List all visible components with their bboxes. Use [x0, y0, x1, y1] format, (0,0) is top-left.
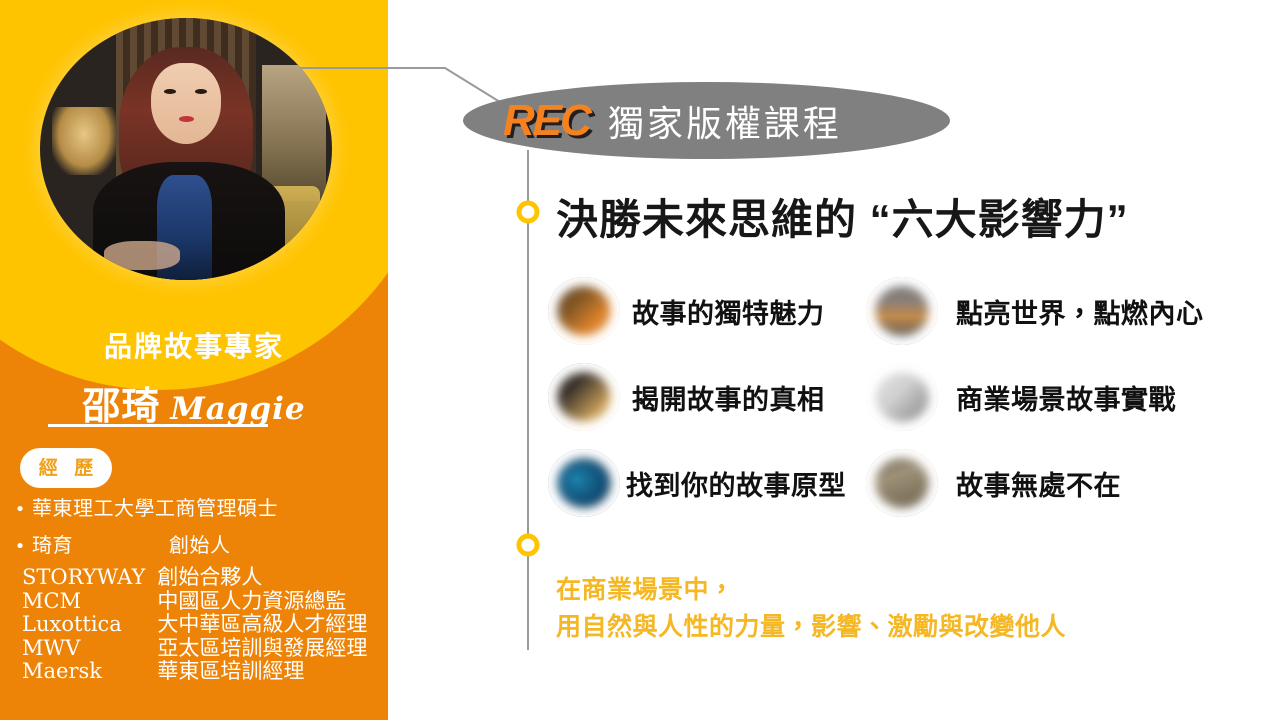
footer-tagline: 在商業場景中， 用自然與人性的力量，影響、激勵與改變他人	[556, 572, 1066, 646]
table-row: STORYWAY 創始合夥人	[22, 566, 367, 590]
topic-item: 揭開故事的真相	[548, 363, 866, 431]
history-title: 創始合夥人	[157, 566, 367, 590]
bullet-icon: •	[8, 499, 32, 520]
rec-badge: REC 獨家版權課程	[463, 82, 950, 159]
topic-item: 商業場景故事實戰	[866, 363, 1266, 431]
history-title: 大中華區高級人才經理	[157, 613, 367, 637]
portrait-background-lamp	[52, 107, 116, 175]
topic-row: 找到你的故事原型 故事無處不在	[548, 440, 1280, 526]
current-title: 創始人	[169, 533, 231, 557]
portrait-eye-left	[164, 89, 176, 94]
slide-canvas: 品牌故事專家 邵琦Maggie 經 歷 • 華東理工大學工商管理碩士 • 琦育創…	[0, 0, 1280, 720]
topic-item: 故事無處不在	[866, 449, 1266, 517]
table-row: MCM 中國區人力資源總監	[22, 590, 367, 614]
topic-label: 揭開故事的真相	[632, 378, 825, 417]
speaker-name-underline	[48, 424, 268, 427]
current-role-text: 琦育創始人	[32, 529, 231, 558]
lighthouse-thumbnail	[866, 277, 938, 345]
history-org: MWV	[22, 637, 157, 661]
topic-label: 故事的獨特魅力	[632, 292, 825, 331]
history-title: 亞太區培訓與發展經理	[157, 637, 367, 661]
fish-underwater-thumbnail	[548, 449, 620, 517]
profile-panel: 品牌故事專家 邵琦Maggie 經 歷 • 華東理工大學工商管理碩士 • 琦育創…	[0, 0, 388, 720]
history-table-body: STORYWAY 創始合夥人 MCM 中國區人力資源總監 Luxottica 大…	[22, 566, 367, 684]
topic-label: 商業場景故事實戰	[956, 378, 1176, 417]
history-title: 中國區人力資源總監	[157, 590, 367, 614]
hands-book-thumbnail	[548, 363, 620, 431]
topic-label: 點亮世界，點燃內心	[956, 292, 1204, 331]
history-title: 華東區培訓經理	[157, 660, 367, 684]
topic-item: 找到你的故事原型	[548, 449, 894, 517]
topic-item: 故事的獨特魅力	[548, 277, 866, 345]
portrait-face	[151, 63, 221, 144]
history-org: MCM	[22, 590, 157, 614]
timeline-marker-bottom	[519, 536, 537, 554]
speaker-role: 品牌故事專家	[0, 325, 388, 365]
hands-paper-thumbnail	[866, 363, 938, 431]
table-row: Maersk 華東區培訓經理	[22, 660, 367, 684]
timeline-marker-top	[519, 203, 537, 221]
table-row: MWV 亞太區培訓與發展經理	[22, 637, 367, 661]
speaker-portrait	[40, 18, 332, 280]
footer-line-1: 在商業場景中，	[556, 572, 1066, 609]
topic-label: 找到你的故事原型	[626, 464, 846, 503]
history-org: STORYWAY	[22, 566, 157, 590]
speaker-name-cn: 邵琦	[82, 386, 160, 428]
portrait-eye-right	[195, 89, 207, 94]
topic-row: 揭開故事的真相 商業場景故事實戰	[548, 354, 1280, 440]
footer-line-2: 用自然與人性的力量，影響、激勵與改變他人	[556, 609, 1066, 646]
topic-row: 故事的獨特魅力 點亮世界，點燃內心	[548, 268, 1280, 354]
portrait-background-window	[262, 65, 326, 201]
history-org: Maersk	[22, 660, 157, 684]
topic-item: 點亮世界，點燃內心	[866, 277, 1266, 345]
page-title: 決勝未來思維的 “六大影響力”	[556, 186, 1129, 247]
topic-label: 故事無處不在	[956, 464, 1121, 503]
history-org: Luxottica	[22, 613, 157, 637]
portrait-lips	[179, 116, 194, 122]
speaker-name-en: Maggie	[170, 391, 305, 427]
education-item: • 華東理工大學工商管理碩士	[8, 492, 386, 521]
experience-badge: 經 歷	[20, 448, 112, 488]
speaker-name: 邵琦Maggie	[0, 375, 388, 430]
portrait-arms	[104, 241, 180, 270]
education-text: 華東理工大學工商管理碩士	[32, 492, 278, 521]
bullet-icon: •	[8, 536, 32, 557]
rec-badge-title: 獨家版權課程	[608, 95, 842, 147]
experience-list: • 華東理工大學工商管理碩士 • 琦育創始人 STORYWAY 創始合夥人 MC…	[8, 492, 386, 684]
topic-grid: 故事的獨特魅力 點亮世界，點燃內心 揭開故事的真相 商業場景故事實戰 找到你的故…	[548, 268, 1280, 526]
current-role-item: • 琦育創始人	[8, 529, 386, 558]
experience-badge-label: 經 歷	[20, 448, 112, 488]
history-table: STORYWAY 創始合夥人 MCM 中國區人力資源總監 Luxottica 大…	[22, 566, 367, 684]
portrait-photo	[40, 18, 332, 280]
rec-label: REC	[503, 96, 590, 146]
current-org: 琦育	[32, 533, 73, 557]
table-row: Luxottica 大中華區高級人才經理	[22, 613, 367, 637]
lion-thumbnail	[548, 277, 620, 345]
